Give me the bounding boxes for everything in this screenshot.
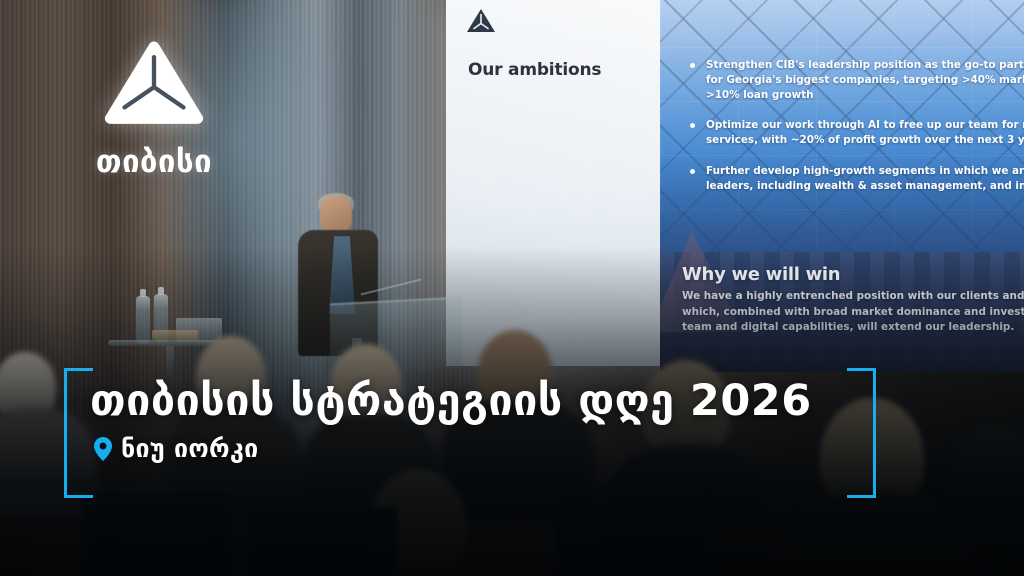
event-key-visual: Our ambitions Strengthen CIB's leadershi…	[0, 0, 1024, 576]
venue-label: ნიუ იორკი	[121, 434, 259, 463]
tbc-wordmark: თიბისი	[64, 144, 244, 180]
audience-shoulders	[784, 492, 968, 576]
chair-back	[248, 506, 398, 576]
chair-back	[82, 494, 232, 576]
tbc-triangle-logo-icon	[102, 38, 206, 130]
location-pin-icon	[94, 437, 112, 461]
audience-head	[948, 424, 1024, 534]
title-lockup: თიბისის სტრატეგიის დღე 2026 ნიუ იორკი	[64, 368, 876, 492]
bracket-left-accent	[64, 368, 93, 498]
bracket-right-accent	[847, 368, 876, 498]
tbc-brand-lockup: თიბისი	[64, 38, 244, 180]
event-headline: თიბისის სტრატეგიის დღე 2026	[90, 376, 812, 426]
chair-back	[556, 486, 706, 576]
event-venue: ნიუ იორკი	[94, 434, 259, 463]
